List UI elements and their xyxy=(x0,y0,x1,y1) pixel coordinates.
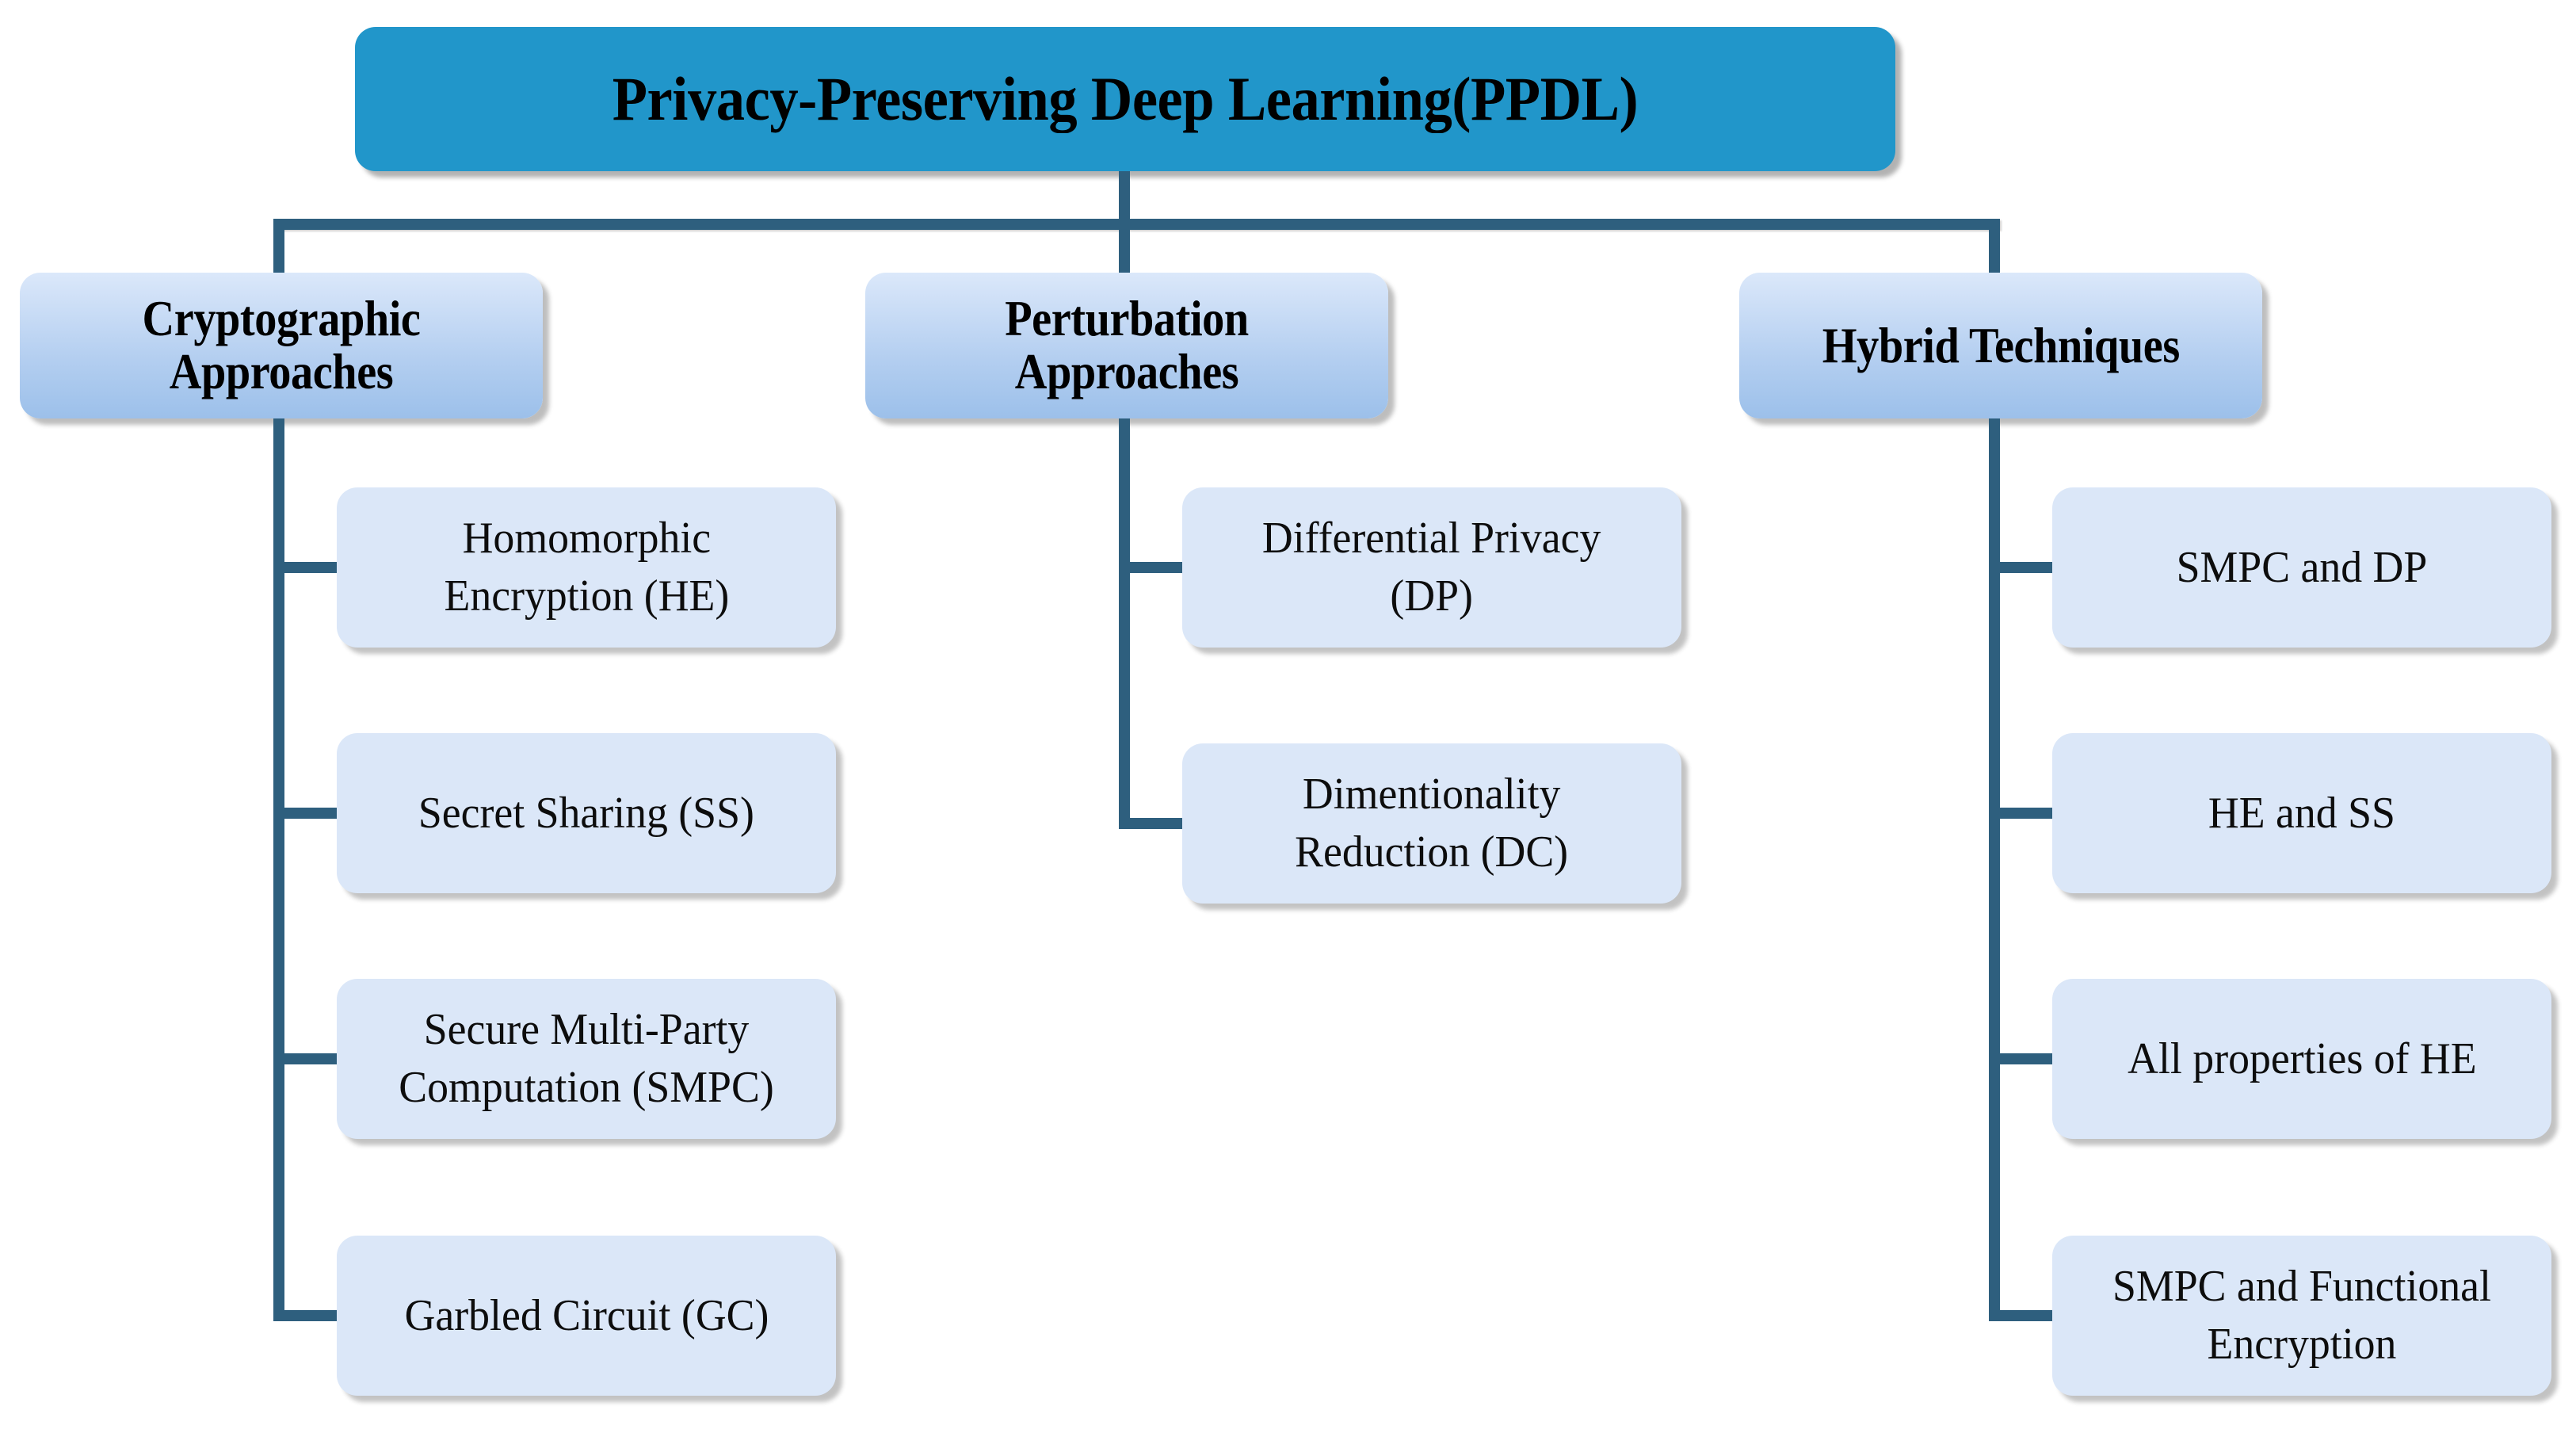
connector-stub-smpc xyxy=(273,1053,338,1064)
connector-stub-smpc-and-dp xyxy=(1989,562,2054,573)
connector-stub-he xyxy=(273,562,338,573)
leaf-node-label-differential-privacy: Differential Privacy (DP) xyxy=(1262,510,1601,625)
connector-drop-hybrid xyxy=(1989,219,2000,276)
ppdl-taxonomy-diagram: Privacy-Preserving Deep Learning(PPDL) C… xyxy=(0,0,2576,1429)
leaf-node-secret-sharing[interactable]: Secret Sharing (SS) xyxy=(337,733,836,893)
category-node-label-hybrid: Hybrid Techniques xyxy=(1822,319,2179,373)
leaf-node-smpc-and-dp[interactable]: SMPC and DP xyxy=(2052,487,2551,648)
connector-spine-perturbation xyxy=(1119,418,1130,829)
leaf-node-all-properties-of-he[interactable]: All properties of HE xyxy=(2052,979,2551,1139)
leaf-node-garbled-circuit[interactable]: Garbled Circuit (GC) xyxy=(337,1236,836,1396)
leaf-node-differential-privacy[interactable]: Differential Privacy (DP) xyxy=(1182,487,1681,648)
leaf-node-label-homomorphic-encryption: Homomorphic Encryption (HE) xyxy=(444,510,729,625)
leaf-node-label-dimensionality-reduction: Dimentionality Reduction (DC) xyxy=(1296,766,1569,881)
leaf-node-label-smpc-and-dp: SMPC and DP xyxy=(2177,539,2428,597)
leaf-node-label-all-properties-of-he: All properties of HE xyxy=(2128,1030,2476,1088)
connector-spine-hybrid xyxy=(1989,418,2000,1321)
connector-horizontal-bus xyxy=(273,219,2000,230)
root-node-label: Privacy-Preserving Deep Learning(PPDL) xyxy=(613,63,1638,135)
connector-spine-cryptographic xyxy=(273,418,284,1321)
connector-stub-gc xyxy=(273,1310,338,1321)
connector-stub-all-properties-of-he xyxy=(1989,1053,2054,1064)
leaf-node-label-secure-multi-party-computation: Secure Multi-Party Computation (SMPC) xyxy=(347,1001,826,1117)
leaf-node-homomorphic-encryption[interactable]: Homomorphic Encryption (HE) xyxy=(337,487,836,648)
leaf-node-label-secret-sharing: Secret Sharing (SS) xyxy=(418,785,754,842)
category-node-cryptographic[interactable]: Cryptographic Approaches xyxy=(20,273,543,418)
leaf-node-label-garbled-circuit: Garbled Circuit (GC) xyxy=(404,1287,769,1345)
connector-drop-cryptographic xyxy=(273,219,284,276)
connector-root-trunk xyxy=(1119,171,1130,224)
leaf-node-dimensionality-reduction[interactable]: Dimentionality Reduction (DC) xyxy=(1182,743,1681,904)
connector-stub-smpc-and-functional-encryption xyxy=(1989,1310,2054,1321)
leaf-node-label-he-and-ss: HE and SS xyxy=(2208,785,2395,842)
root-node-ppdl[interactable]: Privacy-Preserving Deep Learning(PPDL) xyxy=(355,27,1895,171)
category-node-hybrid[interactable]: Hybrid Techniques xyxy=(1739,273,2262,418)
connector-stub-dimensionality-reduction xyxy=(1119,818,1184,829)
connector-stub-he-and-ss xyxy=(1989,808,2054,819)
category-node-perturbation[interactable]: Perturbation Approaches xyxy=(865,273,1388,418)
connector-stub-differential-privacy xyxy=(1119,562,1184,573)
leaf-node-secure-multi-party-computation[interactable]: Secure Multi-Party Computation (SMPC) xyxy=(337,979,836,1139)
category-node-label-perturbation: Perturbation Approaches xyxy=(897,292,1357,398)
connector-stub-ss xyxy=(273,808,338,819)
connector-drop-perturbation xyxy=(1119,219,1130,276)
leaf-node-he-and-ss[interactable]: HE and SS xyxy=(2052,733,2551,893)
leaf-node-label-smpc-and-functional-encryption: SMPC and Functional Encryption xyxy=(2063,1258,2542,1374)
category-node-label-cryptographic: Cryptographic Approaches xyxy=(52,292,512,398)
leaf-node-smpc-and-functional-encryption[interactable]: SMPC and Functional Encryption xyxy=(2052,1236,2551,1396)
